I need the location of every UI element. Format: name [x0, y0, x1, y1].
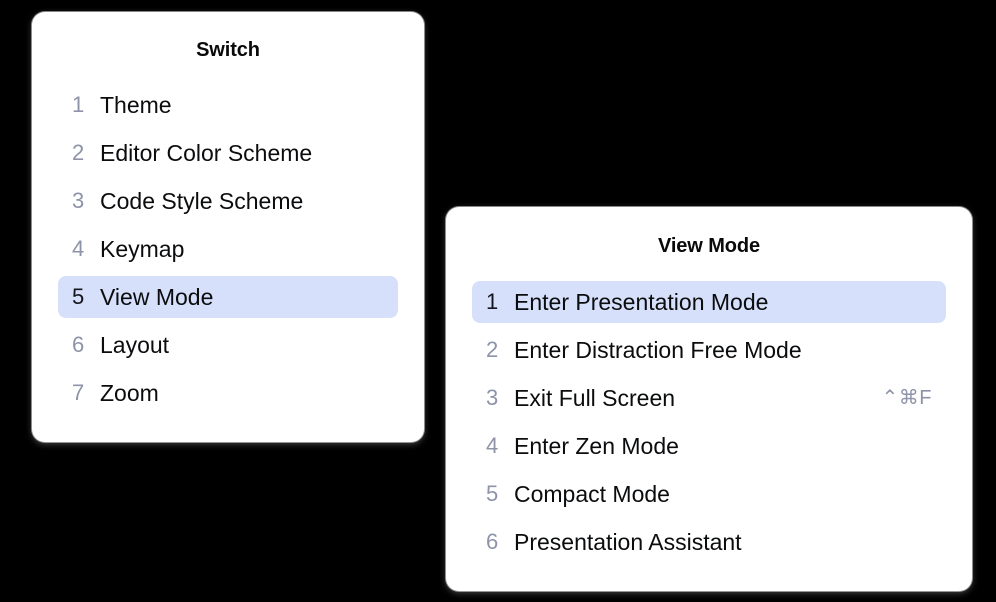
menu-item-label: Enter Presentation Mode	[514, 291, 768, 314]
menu-item-index: 3	[72, 190, 94, 212]
menu-item-layout[interactable]: 6Layout	[58, 324, 398, 366]
menu-item-label: Exit Full Screen	[514, 387, 675, 410]
menu-item-presentation-assistant[interactable]: 6Presentation Assistant	[472, 521, 946, 563]
menu-item-index: 2	[486, 339, 508, 361]
menu-item-compact-mode[interactable]: 5Compact Mode	[472, 473, 946, 515]
menu-item-label: Zoom	[100, 382, 159, 405]
menu-item-shortcut: ⌃⌘F	[864, 388, 932, 408]
menu-item-label: View Mode	[100, 286, 213, 309]
menu-item-label: Enter Zen Mode	[514, 435, 679, 458]
menu-item-index: 7	[72, 382, 94, 404]
menu-item-index: 4	[72, 238, 94, 260]
menu-item-code-style-scheme[interactable]: 3Code Style Scheme	[58, 180, 398, 222]
menu-item-index: 6	[72, 334, 94, 356]
menu-item-index: 4	[486, 435, 508, 457]
menu-item-exit-full-screen[interactable]: 3Exit Full Screen⌃⌘F	[472, 377, 946, 419]
menu-item-zoom[interactable]: 7Zoom	[58, 372, 398, 414]
view-mode-popup-title: View Mode	[446, 235, 972, 258]
menu-item-label: Keymap	[100, 238, 184, 261]
menu-item-enter-presentation-mode[interactable]: 1Enter Presentation Mode	[472, 281, 946, 323]
menu-item-label: Editor Color Scheme	[100, 142, 312, 165]
menu-item-keymap[interactable]: 4Keymap	[58, 228, 398, 270]
menu-item-index: 2	[72, 142, 94, 164]
menu-item-theme[interactable]: 1Theme	[58, 84, 398, 126]
switch-popup-title: Switch	[32, 39, 424, 62]
menu-item-view-mode[interactable]: 5View Mode	[58, 276, 398, 318]
menu-item-index: 3	[486, 387, 508, 409]
menu-item-index: 5	[486, 483, 508, 505]
menu-item-enter-zen-mode[interactable]: 4Enter Zen Mode	[472, 425, 946, 467]
switch-popup: Switch 1Theme2Editor Color Scheme3Code S…	[32, 12, 424, 442]
switch-menu-list: 1Theme2Editor Color Scheme3Code Style Sc…	[32, 84, 424, 414]
menu-item-label: Compact Mode	[514, 483, 670, 506]
menu-item-editor-color-scheme[interactable]: 2Editor Color Scheme	[58, 132, 398, 174]
menu-item-label: Code Style Scheme	[100, 190, 303, 213]
menu-item-enter-distraction-free-mode[interactable]: 2Enter Distraction Free Mode	[472, 329, 946, 371]
menu-item-index: 5	[72, 286, 94, 308]
menu-item-index: 6	[486, 531, 508, 553]
menu-item-label: Presentation Assistant	[514, 531, 742, 554]
menu-item-index: 1	[72, 94, 94, 116]
menu-item-label: Theme	[100, 94, 172, 117]
menu-item-label: Layout	[100, 334, 169, 357]
menu-item-label: Enter Distraction Free Mode	[514, 339, 802, 362]
view-mode-popup: View Mode 1Enter Presentation Mode2Enter…	[446, 207, 972, 591]
view-mode-menu-list: 1Enter Presentation Mode2Enter Distracti…	[446, 281, 972, 563]
menu-item-index: 1	[486, 291, 508, 313]
